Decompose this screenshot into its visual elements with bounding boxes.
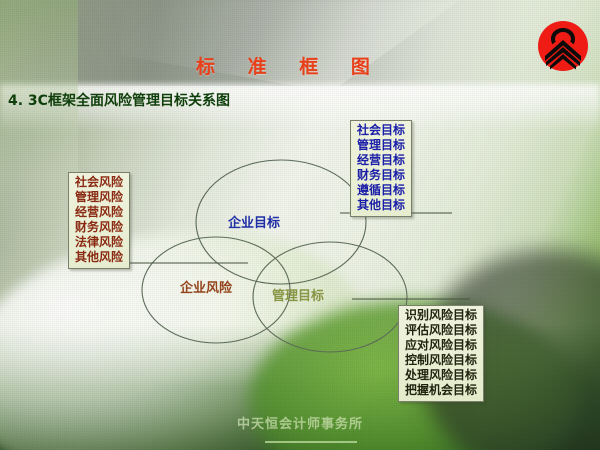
mgmt-item: 评估风险目标 <box>405 323 477 338</box>
risk-item: 管理风险 <box>75 190 123 205</box>
mgmt-item: 处理风险目标 <box>405 368 477 383</box>
goal-item: 经营目标 <box>357 153 405 168</box>
risk-item: 其他风险 <box>75 250 123 265</box>
ellipse-label-enterprise-risk: 企业风险 <box>180 277 232 296</box>
footer-company-name: 中天恒会计师事务所 <box>0 413 600 432</box>
slide-canvas: 标 准 框 图 4. 3C框架全面风险管理目标关系图 企业目标 企业风险 管理目… <box>0 0 600 450</box>
ellipse-label-management-goal: 管理目标 <box>272 285 324 304</box>
mgmt-item: 控制风险目标 <box>405 353 477 368</box>
callout-box-management-goals: 识别风险目标 评估风险目标 应对风险目标 控制风险目标 处理风险目标 把握机会目… <box>398 305 484 402</box>
footer-rule <box>265 441 357 443</box>
risk-item: 财务风险 <box>75 220 123 235</box>
risk-item: 法律风险 <box>75 235 123 250</box>
mgmt-item: 把握机会目标 <box>405 383 477 398</box>
risk-item: 经营风险 <box>75 205 123 220</box>
goal-item: 社会目标 <box>357 123 405 138</box>
goal-item: 遵循目标 <box>357 183 405 198</box>
mgmt-item: 识别风险目标 <box>405 308 477 323</box>
risk-item: 社会风险 <box>75 175 123 190</box>
ellipse-enterprise-goal <box>196 160 366 284</box>
goal-item: 管理目标 <box>357 138 405 153</box>
ellipse-label-enterprise-goal: 企业目标 <box>228 212 280 231</box>
mgmt-item: 应对风险目标 <box>405 338 477 353</box>
callout-box-enterprise-goals: 社会目标 管理目标 经营目标 财务目标 遵循目标 其他目标 <box>350 120 412 217</box>
goal-item: 其他目标 <box>357 198 405 213</box>
goal-item: 财务目标 <box>357 168 405 183</box>
callout-box-enterprise-risks: 社会风险 管理风险 经营风险 财务风险 法律风险 其他风险 <box>68 172 130 269</box>
